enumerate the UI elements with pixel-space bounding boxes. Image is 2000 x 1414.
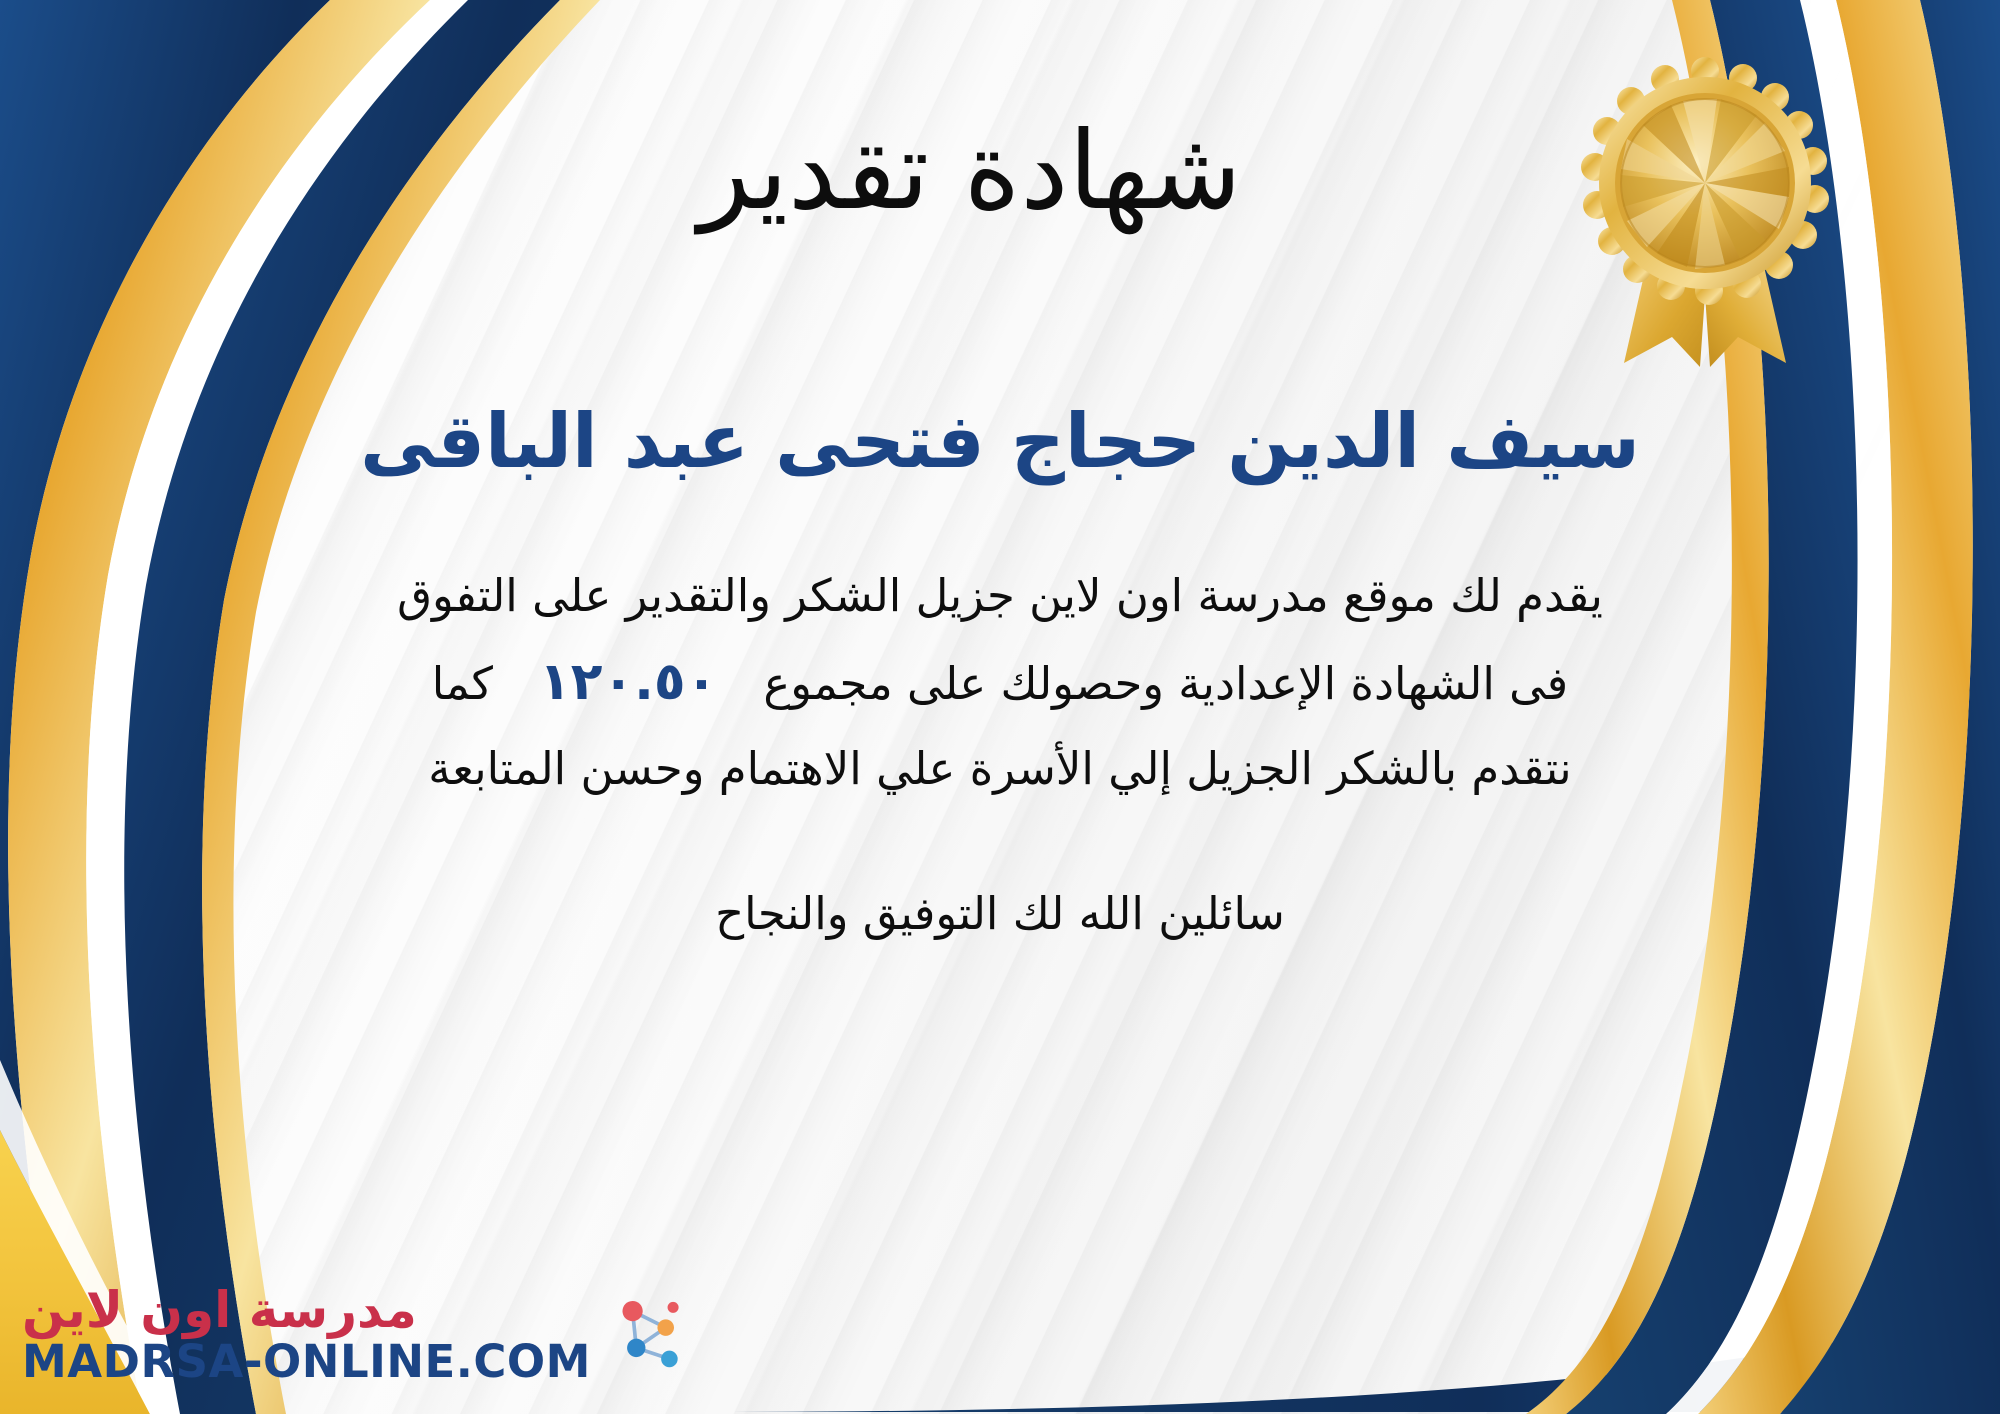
brand-name-english: MADRSA-ONLINE.COM <box>22 1337 591 1387</box>
gold-award-medal-icon <box>1580 55 1830 375</box>
certificate-canvas: شهادة تقدير سيف الدين حجاج فتحى عبد البا… <box>0 0 2000 1414</box>
brand-name-arabic: مدرسة اون لاين <box>22 1284 417 1337</box>
network-nodes-logo-icon <box>605 1289 697 1381</box>
site-logo[interactable]: مدرسة اون لاين MADRSA-ONLINE.COM <box>22 1284 697 1386</box>
brand-text-group: مدرسة اون لاين MADRSA-ONLINE.COM <box>22 1284 591 1386</box>
